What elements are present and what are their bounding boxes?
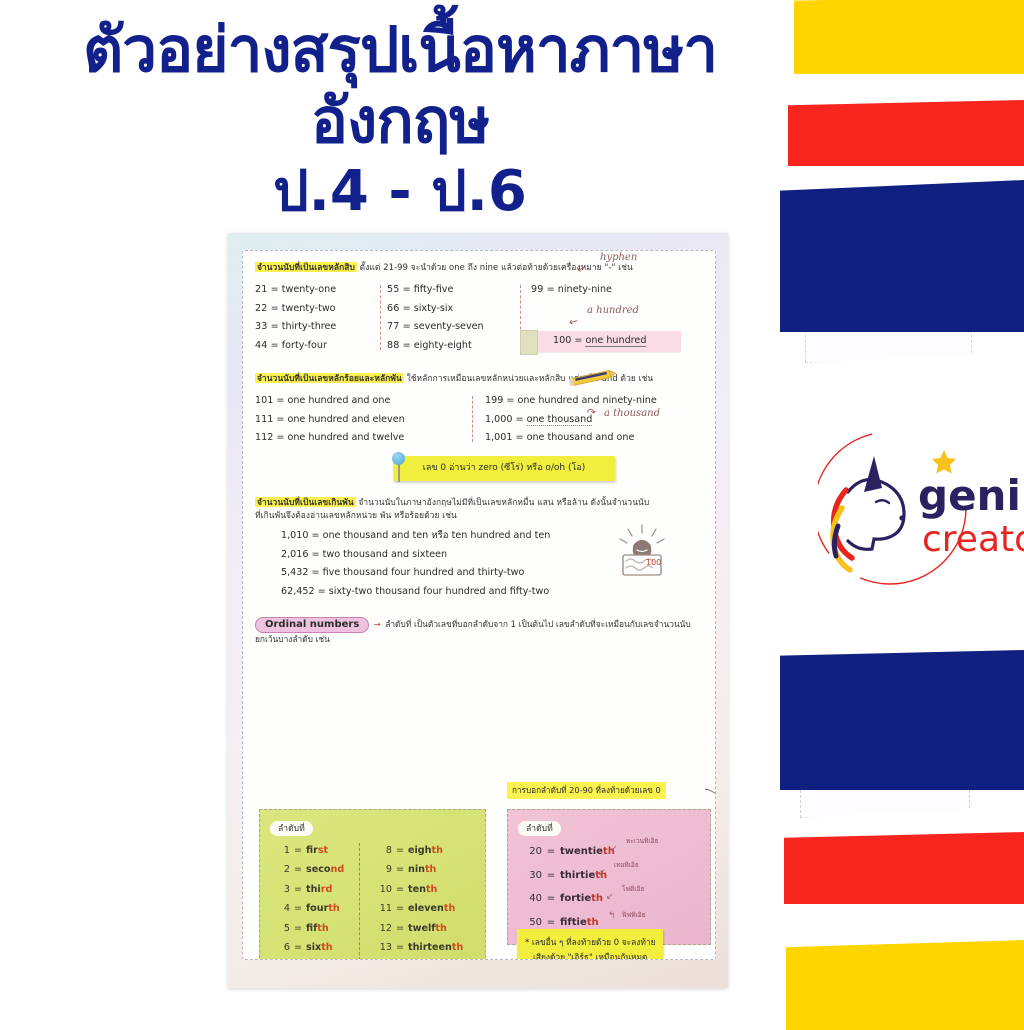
pink-table-body: 20=twentieth 30=thirtieth 40=fortieth 50… xyxy=(518,840,700,934)
genius-creators-logo: genius creators xyxy=(818,430,1024,590)
ordinal-row: 5=fifth xyxy=(270,919,364,938)
section-1-column-1: 21 = twenty-one 22 = twenty-two 33 = thi… xyxy=(255,281,387,356)
a-thousand-annotation: a thousand xyxy=(604,408,660,419)
section-3-desc-1: จำนวนนับในภาษาอังกฤษไม่มีที่เป็นเลขหลักห… xyxy=(358,497,649,507)
hyphen-annotation: hyphen xyxy=(600,252,637,263)
slide-title-block: ตัวอย่างสรุปเนื้อหาภาษาอังกฤษ ป.4 - ป.6 xyxy=(0,14,800,222)
flag-stripe-navy-bottom xyxy=(780,650,1024,790)
section-1-heading: จำนวนนับที่เป็นเลขหลักสิบ ตั้งแต่ 21-99 … xyxy=(255,261,705,274)
section-1-highlight: จำนวนนับที่เป็นเลขหลักสิบ xyxy=(255,262,357,272)
flag-stripe-yellow-bottom xyxy=(786,940,1024,1030)
ordinal-row: 2=second xyxy=(270,860,364,879)
a-thousand-arrow-icon: ↷ xyxy=(586,405,597,419)
title-line-1: ตัวอย่างสรุปเนื้อหาภาษาอังกฤษ xyxy=(0,14,800,157)
a-hundred-arrow-icon: ↙ xyxy=(566,314,580,330)
ordinal-row: 11=eleventh xyxy=(372,899,467,918)
green-table-col-left: 1=first 2=second 3=third 4=fourth 5=fift… xyxy=(270,841,364,960)
section-2-highlight: จำนวนนับที่เป็นเลขหลักร้อยและหลักพัน xyxy=(255,373,404,383)
number-item: 99 = ninety-nine xyxy=(527,281,705,300)
star-icon xyxy=(932,450,956,474)
highlight-tab xyxy=(520,330,538,355)
pink-table-header-tag: การบอกลำดับที่ 20-90 ที่ลงท้ายด้วยเลข 0 xyxy=(507,782,666,799)
section-3-highlight: จำนวนนับที่เป็นเลขเกินพัน xyxy=(255,497,356,507)
number-item: 55 = fifty-five xyxy=(387,281,527,300)
number-item: 77 = seventy-seven xyxy=(387,318,527,337)
section-2-heading: จำนวนนับที่เป็นเลขหลักร้อยและหลักพัน ใช้… xyxy=(255,372,705,385)
pencil-icon xyxy=(568,364,619,392)
number-item: 66 = sixty-six xyxy=(387,300,527,319)
green-table-body: 1=first 2=second 3=third 4=fourth 5=fift… xyxy=(270,841,475,960)
slide-canvas: ตัวอย่างสรุปเนื้อหาภาษาอังกฤษ ป.4 - ป.6 … xyxy=(0,0,1024,1024)
title-line-2: ป.4 - ป.6 xyxy=(0,161,800,223)
section-3-desc-2: ที่เกินพันจึงต้องอ่านเลขหลักหน่วย พัน หร… xyxy=(255,510,457,520)
flag-stripe-yellow-top xyxy=(794,0,1024,74)
student-doodle-icon: 100 xyxy=(613,523,671,585)
thai-pronunciation: ฟิฟทิเอิธ xyxy=(622,910,646,920)
section-3-desc-2-wrap: ที่เกินพันจึงต้องอ่านเลขหลักหน่วย พัน หร… xyxy=(255,509,705,522)
green-table-col-right: 8=eighth 9=ninth 10=tenth 11=eleventh 12… xyxy=(364,841,467,960)
ordinal-green-table: ลำดับที่ 1=first 2=second 3=third 4=four… xyxy=(259,809,486,960)
footnote-note: * เลขอื่น ๆ ที่ลงท้ายด้วย 0 จะลงท้าย เสี… xyxy=(517,929,663,960)
ordinal-row: 12=twelfth xyxy=(372,919,467,938)
zero-sticky-note: เลข 0 อ่านว่า zero (ซีโร่) หรือ o/oh (โอ… xyxy=(393,456,615,481)
svg-text:100: 100 xyxy=(646,558,661,567)
number-item: 88 = eighty-eight xyxy=(387,337,527,356)
thai-pronunciation: เทอทิเอิธ xyxy=(614,860,639,870)
section-2-column-2: 199 = one hundred and ninety-nine 1,000 … xyxy=(479,392,705,448)
ordinal-row: 20=twentieth xyxy=(518,840,700,864)
ordinal-row: 8=eighth xyxy=(372,841,467,860)
ordinal-row: 3=third xyxy=(270,880,364,899)
thai-arrow-icon: ↰ xyxy=(608,910,616,921)
section-1-desc: ตั้งแต่ 21-99 จะนำด้วย one ถึง nine แล้ว… xyxy=(360,262,633,272)
ordinal-row: 7=seventh xyxy=(270,957,364,960)
ordinal-row: 30=thirtieth xyxy=(518,864,700,888)
ordinal-pink-table: ลำดับที่ 20=twentieth 30=thirtieth 40=fo… xyxy=(507,809,711,945)
thai-arrow-icon: ↙ xyxy=(598,867,606,878)
worksheet-page: จำนวนนับที่เป็นเลขหลักสิบ ตั้งแต่ 21-99 … xyxy=(228,233,728,988)
zero-note-text: เลข 0 อ่านว่า zero (ซีโร่) หรือ o/oh (โอ… xyxy=(397,461,611,475)
zero-note-wrap: เลข 0 อ่านว่า zero (ซีโร่) หรือ o/oh (โอ… xyxy=(255,452,705,486)
section-2-columns: 101 = one hundred and one 111 = one hund… xyxy=(255,392,705,448)
svg-text:genius: genius xyxy=(918,471,1024,520)
ordinal-row: 4=fourth xyxy=(270,899,364,918)
ordinal-numbers-pill: Ordinal numbers xyxy=(255,617,369,633)
one-hundred-row: 100 = one hundred xyxy=(553,335,646,346)
number-item: 1,001 = one thousand and one xyxy=(485,429,705,448)
ordinal-row: 6=sixth xyxy=(270,938,364,957)
ordinal-arrow-icon: → xyxy=(374,619,381,629)
one-hundred-highlight-strip: 100 = one hundred xyxy=(531,331,681,352)
pin-stem xyxy=(398,462,400,482)
green-table-caption: ลำดับที่ xyxy=(270,821,313,836)
pink-table-caption: ลำดับที่ xyxy=(518,821,561,836)
section-2-column-1: 101 = one hundred and one 111 = one hund… xyxy=(255,392,479,448)
number-item: 33 = thirty-three xyxy=(255,318,387,337)
flag-stripe-red-top xyxy=(788,100,1024,166)
worksheet-content: จำนวนนับที่เป็นเลขหลักสิบ ตั้งแต่ 21-99 … xyxy=(255,261,705,953)
ordinal-row: 1=first xyxy=(270,841,364,860)
ordinal-row: 19=nineteenth xyxy=(372,957,467,960)
ordinal-desc-1: ลำดับที่ เป็นตัวเลขที่บอกลำดับจาก 1 เป็น… xyxy=(385,619,690,629)
ordinal-desc-2: ยกเว้นบางลำดับ เช่น xyxy=(255,633,705,646)
thai-arrow-icon: ↙ xyxy=(606,891,614,902)
unicorn-icon xyxy=(833,456,905,570)
thai-pronunciation: โฟติเอิธ xyxy=(622,884,644,894)
number-item: 111 = one hundred and eleven xyxy=(255,411,479,430)
number-item: 44 = forty-four xyxy=(255,337,387,356)
number-item: 112 = one hundred and twelve xyxy=(255,429,479,448)
worksheet-inner-frame: จำนวนนับที่เป็นเลขหลักสิบ ตั้งแต่ 21-99 … xyxy=(242,250,716,960)
section-1-column-2: 55 = fifty-five 66 = sixty-six 77 = seve… xyxy=(387,281,527,356)
section-1-column-3: 99 = ninety-nine a hundred ↙ 100 = one h… xyxy=(527,281,705,356)
thai-arrow-icon: ↙ xyxy=(610,843,618,854)
flag-stripe-red-bottom xyxy=(784,832,1024,904)
section-3-heading: จำนวนนับที่เป็นเลขเกินพัน จำนวนนับในภาษา… xyxy=(255,496,705,509)
number-item: 22 = twenty-two xyxy=(255,300,387,319)
number-item: 62,452 = sixty-two thousand four hundred… xyxy=(281,583,705,602)
number-item: 101 = one hundred and one xyxy=(255,392,479,411)
number-item: 21 = twenty-one xyxy=(255,281,387,300)
a-hundred-annotation: a hundred xyxy=(587,305,639,316)
ordinal-row: 13=thirteenth xyxy=(372,938,467,957)
ordinal-row: 9=ninth xyxy=(372,860,467,879)
ordinal-heading: Ordinal numbers → ลำดับที่ เป็นตัวเลขที่… xyxy=(255,614,705,633)
section-3-rows: 1,010 = one thousand and ten หรือ ten hu… xyxy=(255,527,705,602)
pushpin-icon xyxy=(392,452,405,465)
section-1-columns: 21 = twenty-one 22 = twenty-two 33 = thi… xyxy=(255,281,705,356)
svg-text:creators: creators xyxy=(922,519,1024,560)
flag-stripe-navy-top xyxy=(780,180,1024,332)
ordinal-row: 10=tenth xyxy=(372,880,467,899)
thai-pronunciation: ทะเวนทิเอิธ xyxy=(626,836,658,846)
footnote-line-2: เสียงด้วย "เอิร์ธ" เหมือนกันหมด xyxy=(525,950,655,960)
footnote-line-1: * เลขอื่น ๆ ที่ลงท้ายด้วย 0 จะลงท้าย xyxy=(525,935,655,950)
